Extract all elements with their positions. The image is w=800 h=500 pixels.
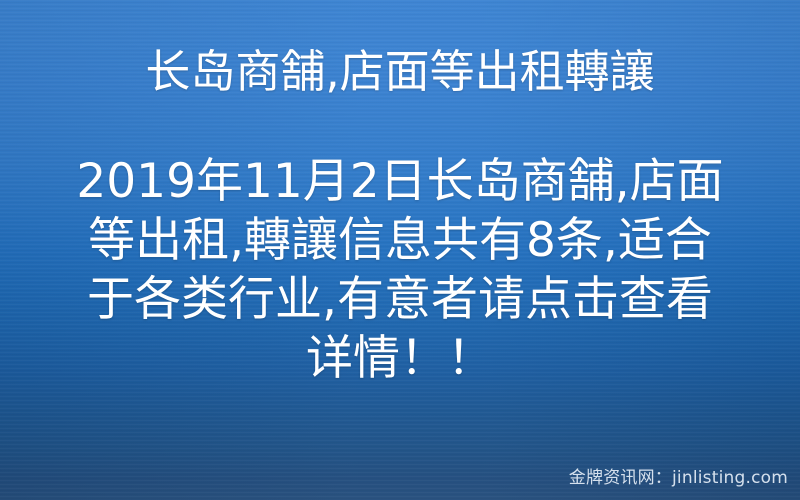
body-line-4: 详情！！ [0, 329, 800, 388]
body-line-1: 2019年11月2日长岛商舗,店面 [0, 152, 800, 211]
page-title: 长岛商舗,店面等出租轉讓 [0, 44, 800, 100]
watermark-credit: 金牌资讯网：jinlisting.com [569, 468, 788, 488]
body-line-3: 于各类行业,有意者请点击查看 [0, 270, 800, 329]
body-line-2: 等出租,轉讓信息共有8条,适合 [0, 211, 800, 270]
body-text-block: 2019年11月2日长岛商舗,店面 等出租,轉讓信息共有8条,适合 于各类行业,… [0, 152, 800, 388]
poster-canvas: 长岛商舗,店面等出租轉讓 2019年11月2日长岛商舗,店面 等出租,轉讓信息共… [0, 0, 800, 500]
